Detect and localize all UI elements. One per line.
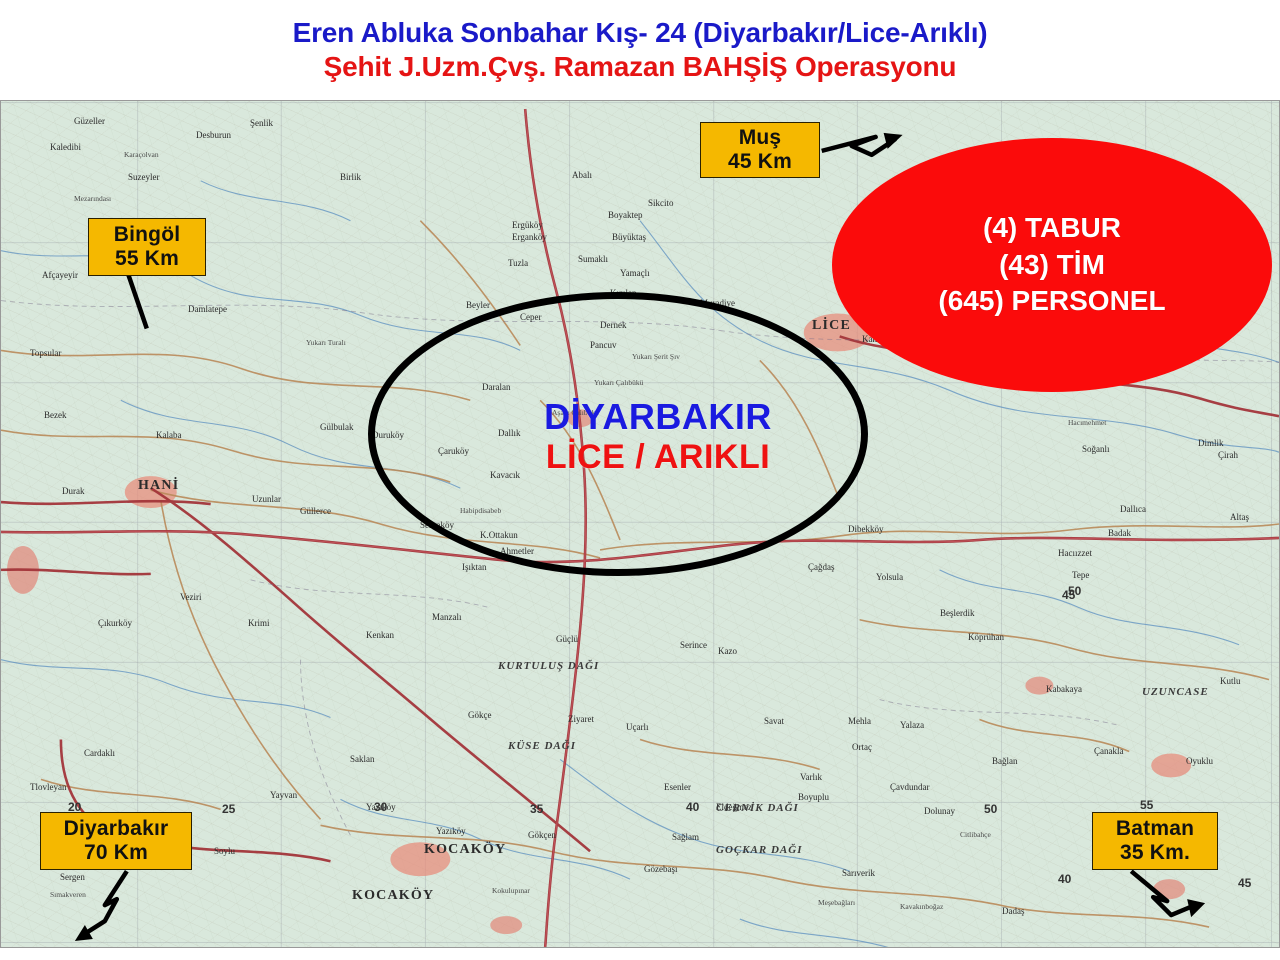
operation-title-line-1: Eren Abluka Sonbahar Kış- 24 (Diyarbakır…	[293, 17, 988, 49]
callout-diyarbakir-distance: 70 Km	[84, 841, 148, 865]
operation-title-line-2: Şehit J.Uzm.Çvş. Ramazan BAHŞİŞ Operasyo…	[324, 51, 957, 83]
force-summary-ellipse: (4) TABUR (43) TİM (645) PERSONEL	[832, 138, 1272, 392]
callout-bingol-distance: 55 Km	[115, 247, 179, 271]
callout-bingol-city: Bingöl	[114, 223, 181, 247]
callout-batman-city: Batman	[1116, 817, 1194, 841]
callout-mus-distance: 45 Km	[728, 150, 792, 174]
title-block: Eren Abluka Sonbahar Kış- 24 (Diyarbakır…	[0, 0, 1280, 100]
callout-batman[interactable]: Batman 35 Km.	[1092, 812, 1218, 870]
summary-teams: (43) TİM	[999, 247, 1105, 283]
area-of-operation-ellipse	[368, 292, 868, 576]
arrow-diyarbakir	[75, 871, 127, 941]
summary-personnel: (645) PERSONEL	[938, 283, 1165, 319]
callout-batman-distance: 35 Km.	[1120, 841, 1190, 865]
callout-mus-city: Muş	[739, 126, 782, 150]
callout-diyarbakir[interactable]: Diyarbakır 70 Km	[40, 812, 192, 870]
slide-root: Eren Abluka Sonbahar Kış- 24 (Diyarbakır…	[0, 0, 1280, 960]
arrow-mus	[822, 133, 903, 155]
callout-bingol[interactable]: Bingöl 55 Km	[88, 218, 206, 276]
summary-battalions: (4) TABUR	[983, 210, 1121, 246]
callout-mus[interactable]: Muş 45 Km	[700, 122, 820, 178]
callout-diyarbakir-city: Diyarbakır	[64, 817, 169, 841]
